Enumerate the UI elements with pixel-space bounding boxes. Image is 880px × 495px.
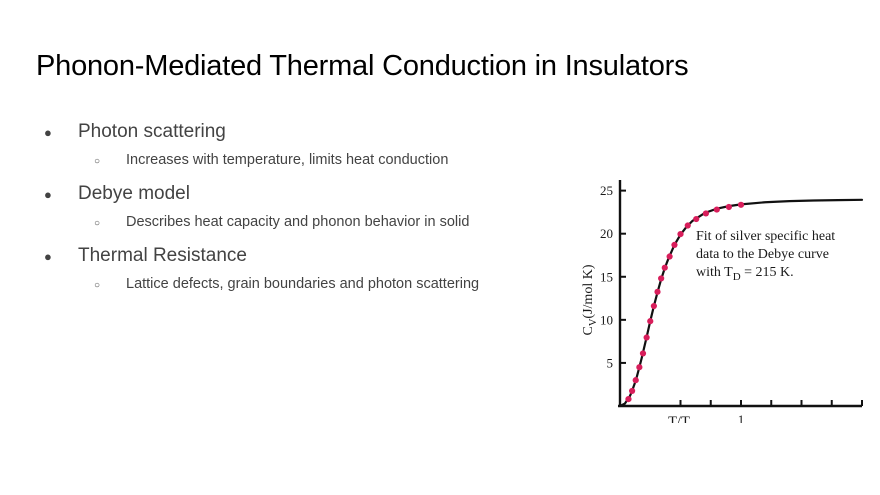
bullet-group-1: ● Photon scattering ○ Increases with tem… [36,118,566,174]
data-point [625,396,631,402]
annotation-line-2: data to the Debye curve [696,247,829,262]
annotation-line-1: Fit of silver specific heat [696,229,835,244]
data-point [644,334,650,340]
bullet-list: ● Photon scattering ○ Increases with tem… [36,118,566,304]
bullet-item-level2: ○ Increases with temperature, limits hea… [36,148,566,174]
chart-annotation: Fit of silver specific heatdata to the D… [696,229,835,283]
bullet-filled-circle-icon: ● [36,119,78,147]
data-point [714,206,720,212]
data-point [629,388,635,394]
bullet-filled-circle-icon: ● [36,243,78,271]
bullet-hollow-circle-icon: ○ [36,212,126,236]
data-point [677,231,683,237]
x-axis-label: T/TD [668,414,698,423]
data-point [693,216,699,222]
data-point [671,242,677,248]
bullet-text-level2: Lattice defects, grain boundaries and ph… [126,272,566,296]
bullet-item-level1: ● Thermal Resistance [36,242,566,271]
data-point [662,265,668,271]
data-point [703,210,709,216]
y-tick-label: 10 [600,312,613,327]
y-tick-label: 20 [600,226,613,241]
data-point [738,202,744,208]
bullet-text-level2: Describes heat capacity and phonon behav… [126,210,566,234]
svg-text:CV(J/mol K): CV(J/mol K) [581,264,599,335]
data-point [658,275,664,281]
slide: Phonon-Mediated Thermal Conduction in In… [0,0,880,495]
bullet-hollow-circle-icon: ○ [36,274,126,298]
bullet-item-level1: ● Photon scattering [36,118,566,147]
data-point [640,350,646,356]
data-point [633,377,639,383]
y-axis-label: CV(J/mol K) [581,264,599,335]
bullet-item-level1: ● Debye model [36,180,566,209]
y-tick-label: 25 [600,183,613,198]
bullet-text-level1: Debye model [78,180,566,208]
data-point [667,253,673,259]
bullet-text-level1: Photon scattering [78,118,566,146]
bullet-group-2: ● Debye model ○ Describes heat capacity … [36,180,566,236]
svg-text:T/TD: T/TD [668,414,698,423]
data-point [647,318,653,324]
debye-curve-figure: 5101520251T/TDCV(J/mol K)Fit of silver s… [578,168,868,423]
y-tick-label: 15 [600,269,613,284]
y-tick-label: 5 [607,355,614,370]
data-point [636,364,642,370]
debye-curve-chart: 5101520251T/TDCV(J/mol K)Fit of silver s… [578,168,868,423]
bullet-item-level2: ○ Lattice defects, grain boundaries and … [36,272,566,298]
data-point [651,303,657,309]
data-point [654,289,660,295]
annotation-line-3: with TD = 215 K. [696,265,794,283]
page-title: Phonon-Mediated Thermal Conduction in In… [36,48,836,84]
bullet-filled-circle-icon: ● [36,181,78,209]
bullet-item-level2: ○ Describes heat capacity and phonon beh… [36,210,566,236]
data-point [726,204,732,210]
bullet-hollow-circle-icon: ○ [36,150,126,174]
x-tick-label: 1 [738,412,745,423]
bullet-text-level1: Thermal Resistance [78,242,566,270]
bullet-text-level2: Increases with temperature, limits heat … [126,148,566,172]
data-point [685,222,691,228]
bullet-group-3: ● Thermal Resistance ○ Lattice defects, … [36,242,566,298]
